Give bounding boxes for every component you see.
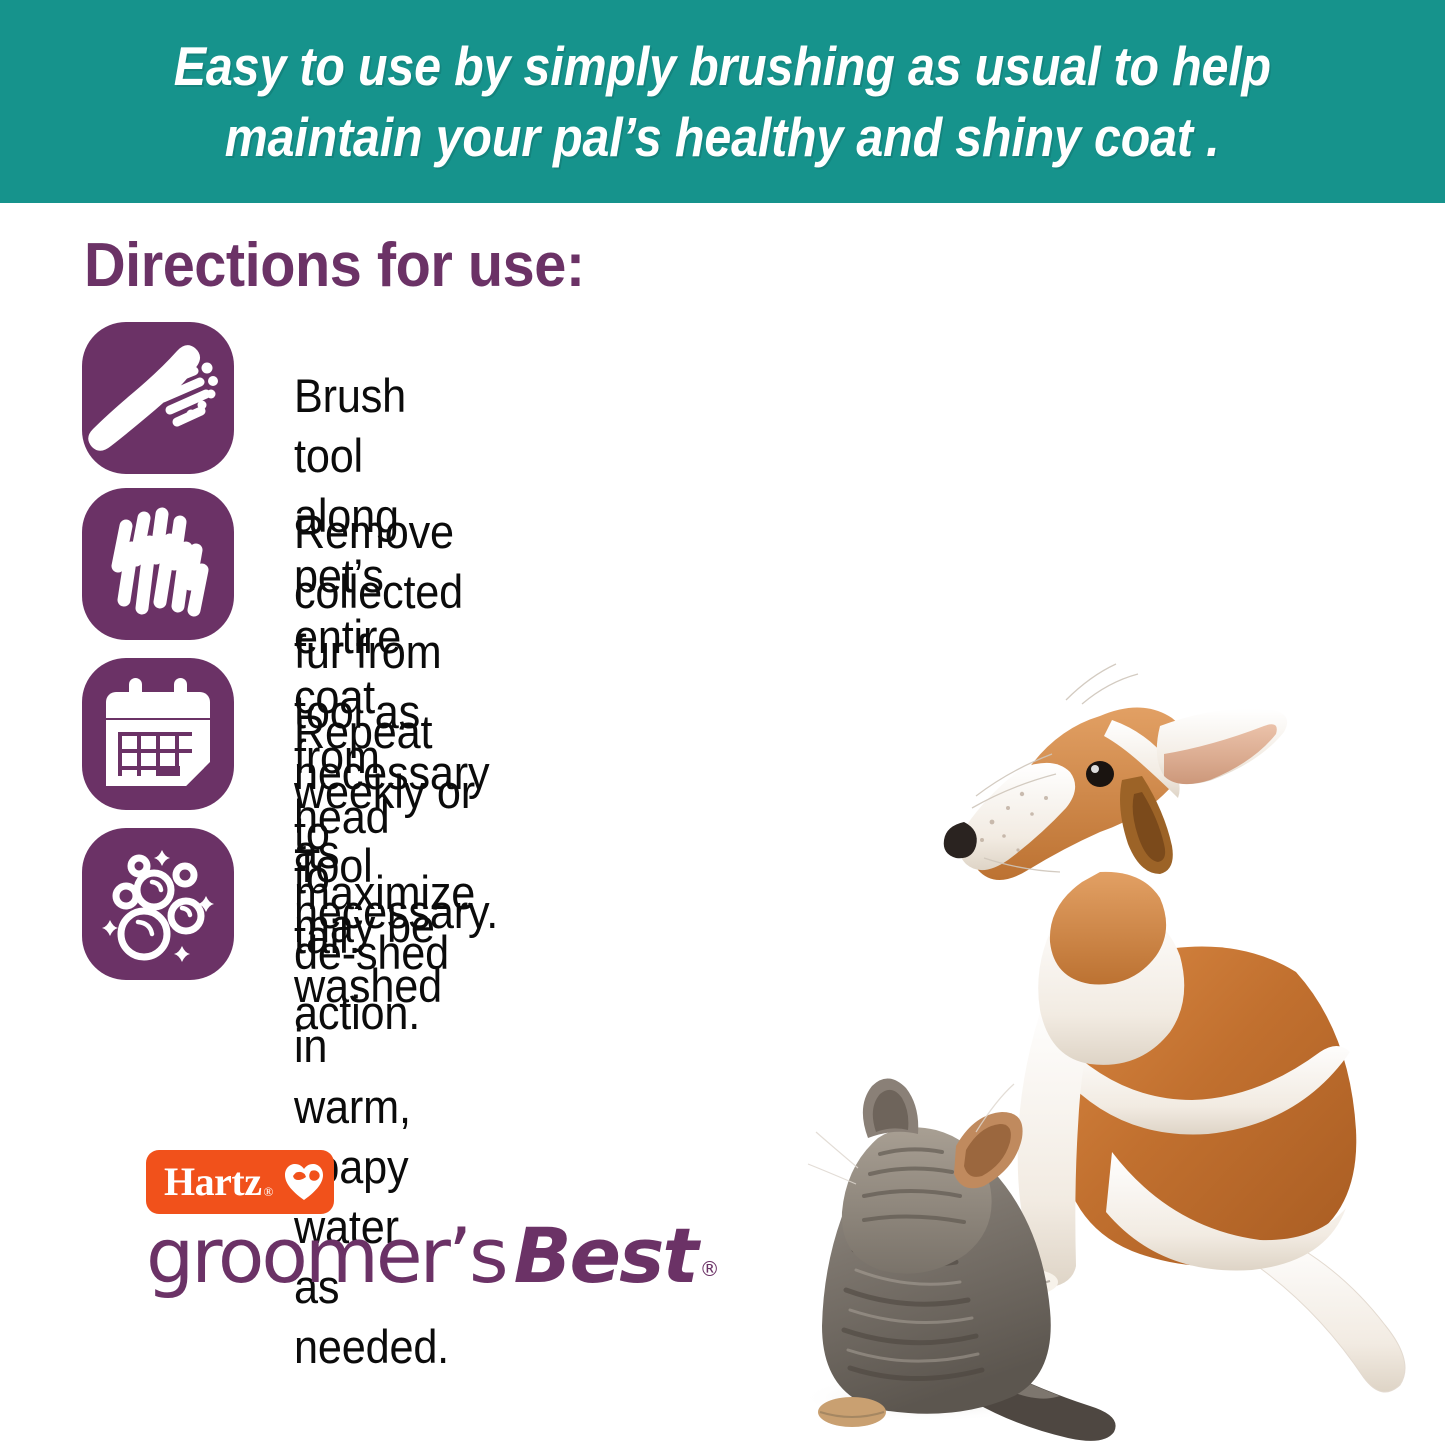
hartz-badge-registered: ® xyxy=(263,1184,273,1200)
wordmark-best: Best xyxy=(514,1211,697,1300)
hartz-badge: Hartz ® xyxy=(146,1150,334,1214)
groomers-best-wordmark: groomer’sBest® xyxy=(146,1218,720,1294)
calendar-icon xyxy=(82,658,234,810)
dog-and-cat-photo xyxy=(760,540,1445,1445)
brush-icon xyxy=(82,322,234,474)
headline-banner: Easy to use by simply brushing as usual … xyxy=(0,0,1445,203)
product-info-panel: Easy to use by simply brushing as usual … xyxy=(0,0,1445,1445)
soap-bubbles-icon xyxy=(82,828,234,980)
fur-strands-icon xyxy=(82,488,234,640)
hartz-badge-text: Hartz xyxy=(164,1162,261,1202)
wordmark-groomers: groomer’s xyxy=(146,1211,506,1300)
headline-line-1: Easy to use by simply brushing as usual … xyxy=(174,31,1271,101)
page-title: Directions for use: xyxy=(84,232,585,300)
hartz-pet-heart-icon xyxy=(284,1163,324,1201)
wordmark-registered: ® xyxy=(700,1257,720,1281)
headline-line-2: maintain your pal’s healthy and shiny co… xyxy=(225,102,1220,172)
brand-logo: Hartz ® groomer’sBest® xyxy=(146,1150,720,1294)
